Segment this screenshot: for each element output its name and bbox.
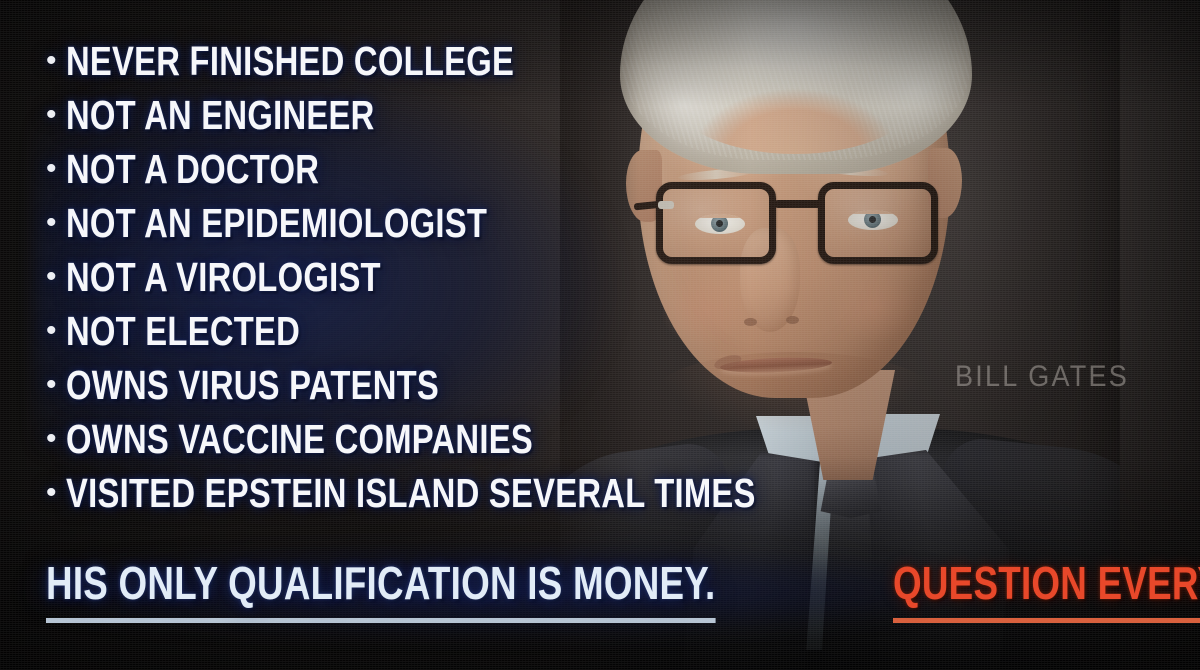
list-item: • OWNS VACCINE COMPANIES bbox=[46, 416, 766, 470]
bullet-point-icon: • bbox=[46, 370, 57, 400]
list-item-label: NOT AN ENGINEER bbox=[66, 92, 375, 139]
bullet-point-icon: • bbox=[46, 100, 57, 130]
bullet-point-icon: • bbox=[46, 262, 57, 292]
headline-statement: HIS ONLY QUALIFICATION IS MONEY. bbox=[46, 556, 715, 623]
list-item: • NOT A VIROLOGIST bbox=[46, 254, 766, 308]
list-item: • NOT AN EPIDEMIOLOGIST bbox=[46, 200, 766, 254]
headline: HIS ONLY QUALIFICATION IS MONEY. QUESTIO… bbox=[46, 556, 1200, 623]
list-item-label: NOT AN EPIDEMIOLOGIST bbox=[66, 200, 487, 247]
list-item: • NOT A DOCTOR bbox=[46, 146, 766, 200]
headline-call-to-action: QUESTION EVERYTHING. bbox=[893, 556, 1200, 623]
list-item: • NOT AN ENGINEER bbox=[46, 92, 766, 146]
list-item: • NEVER FINISHED COLLEGE bbox=[46, 38, 766, 92]
list-item: • NOT ELECTED bbox=[46, 308, 766, 362]
bullet-point-icon: • bbox=[46, 154, 57, 184]
claims-bullet-list: • NEVER FINISHED COLLEGE • NOT AN ENGINE… bbox=[46, 38, 766, 524]
list-item-label: NOT ELECTED bbox=[66, 308, 300, 355]
bullet-point-icon: • bbox=[46, 208, 57, 238]
watermark-label: BILL GATES bbox=[955, 360, 1129, 394]
bullet-point-icon: • bbox=[46, 478, 57, 508]
list-item-label: OWNS VIRUS PATENTS bbox=[66, 362, 439, 409]
bullet-point-icon: • bbox=[46, 424, 57, 454]
list-item-label: VISITED EPSTEIN ISLAND SEVERAL TIMES bbox=[66, 470, 756, 517]
list-item: • VISITED EPSTEIN ISLAND SEVERAL TIMES bbox=[46, 470, 766, 524]
list-item-label: OWNS VACCINE COMPANIES bbox=[66, 416, 533, 463]
list-item-label: NOT A DOCTOR bbox=[66, 146, 319, 193]
list-item-label: NOT A VIROLOGIST bbox=[66, 254, 381, 301]
list-item-label: NEVER FINISHED COLLEGE bbox=[66, 38, 514, 85]
meme-image: BILL GATES • NEVER FINISHED COLLEGE • NO… bbox=[0, 0, 1200, 670]
bullet-point-icon: • bbox=[46, 316, 57, 346]
bullet-point-icon: • bbox=[46, 46, 57, 76]
list-item: • OWNS VIRUS PATENTS bbox=[46, 362, 766, 416]
